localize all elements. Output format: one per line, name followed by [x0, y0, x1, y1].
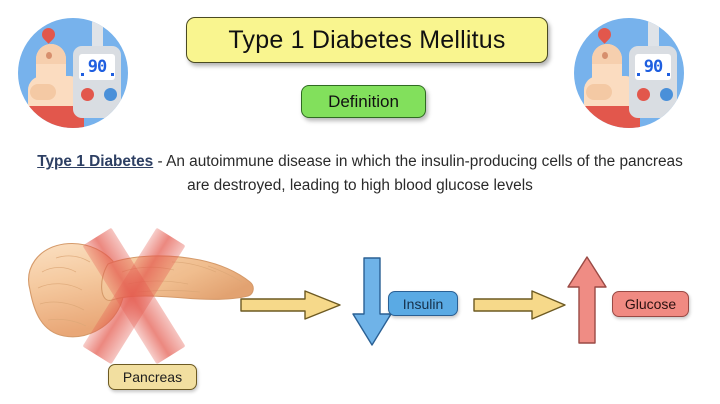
- pancreas-label-text: Pancreas: [123, 369, 182, 385]
- meter-screen: 90: [635, 54, 671, 80]
- flow-arrow-right-2: [472, 290, 568, 320]
- blood-drop-icon: [39, 25, 57, 43]
- meter-button-red: [637, 88, 650, 101]
- glucometer-icon-left: 90: [14, 14, 132, 132]
- pancreas-organ-shape: [22, 232, 272, 362]
- pancreas-illustration: [22, 232, 272, 362]
- definition-body: An autoimmune disease in which the insul…: [166, 153, 683, 194]
- definition-paragraph: Type 1 Diabetes - An autoimmune disease …: [24, 150, 696, 198]
- meter-reading-value: 90: [88, 59, 106, 76]
- meter-screen-dot-right: [111, 73, 114, 76]
- glucometer-circle-backdrop: 90: [18, 18, 128, 128]
- definition-term: Type 1 Diabetes: [37, 153, 153, 170]
- meter-button-red: [81, 88, 94, 101]
- blood-drop-icon: [595, 25, 613, 43]
- lancet-puncture-dot: [602, 52, 608, 59]
- meter-reading-value: 90: [644, 59, 662, 76]
- section-badge-label: Definition: [328, 92, 399, 112]
- lancet-puncture-dot: [46, 52, 52, 59]
- insulin-label: Insulin: [388, 291, 458, 316]
- glucose-increase-arrow-up: [567, 255, 609, 345]
- pancreas-label: Pancreas: [108, 364, 197, 390]
- thumb-shape: [30, 84, 56, 100]
- meter-button-blue: [660, 88, 673, 101]
- meter-screen-dot-right: [667, 73, 670, 76]
- flow-arrow-right-1: [239, 290, 343, 320]
- glucometer-icon-right: 90: [570, 14, 688, 132]
- glucose-label: Glucose: [612, 291, 689, 317]
- glucometer-circle-backdrop: 90: [574, 18, 684, 128]
- meter-screen: 90: [79, 54, 115, 80]
- meter-screen-dot-left: [81, 73, 84, 76]
- meter-button-blue: [104, 88, 117, 101]
- thumb-shape: [586, 84, 612, 100]
- meter-screen-dot-left: [637, 73, 640, 76]
- section-badge: Definition: [301, 85, 426, 118]
- definition-separator: -: [153, 153, 166, 170]
- page-title: Type 1 Diabetes Mellitus: [228, 26, 505, 55]
- insulin-label-text: Insulin: [403, 296, 443, 312]
- slide-title-box: Type 1 Diabetes Mellitus: [186, 17, 548, 63]
- glucose-label-text: Glucose: [625, 296, 676, 312]
- slide-canvas: 90 90 Type 1: [0, 0, 720, 404]
